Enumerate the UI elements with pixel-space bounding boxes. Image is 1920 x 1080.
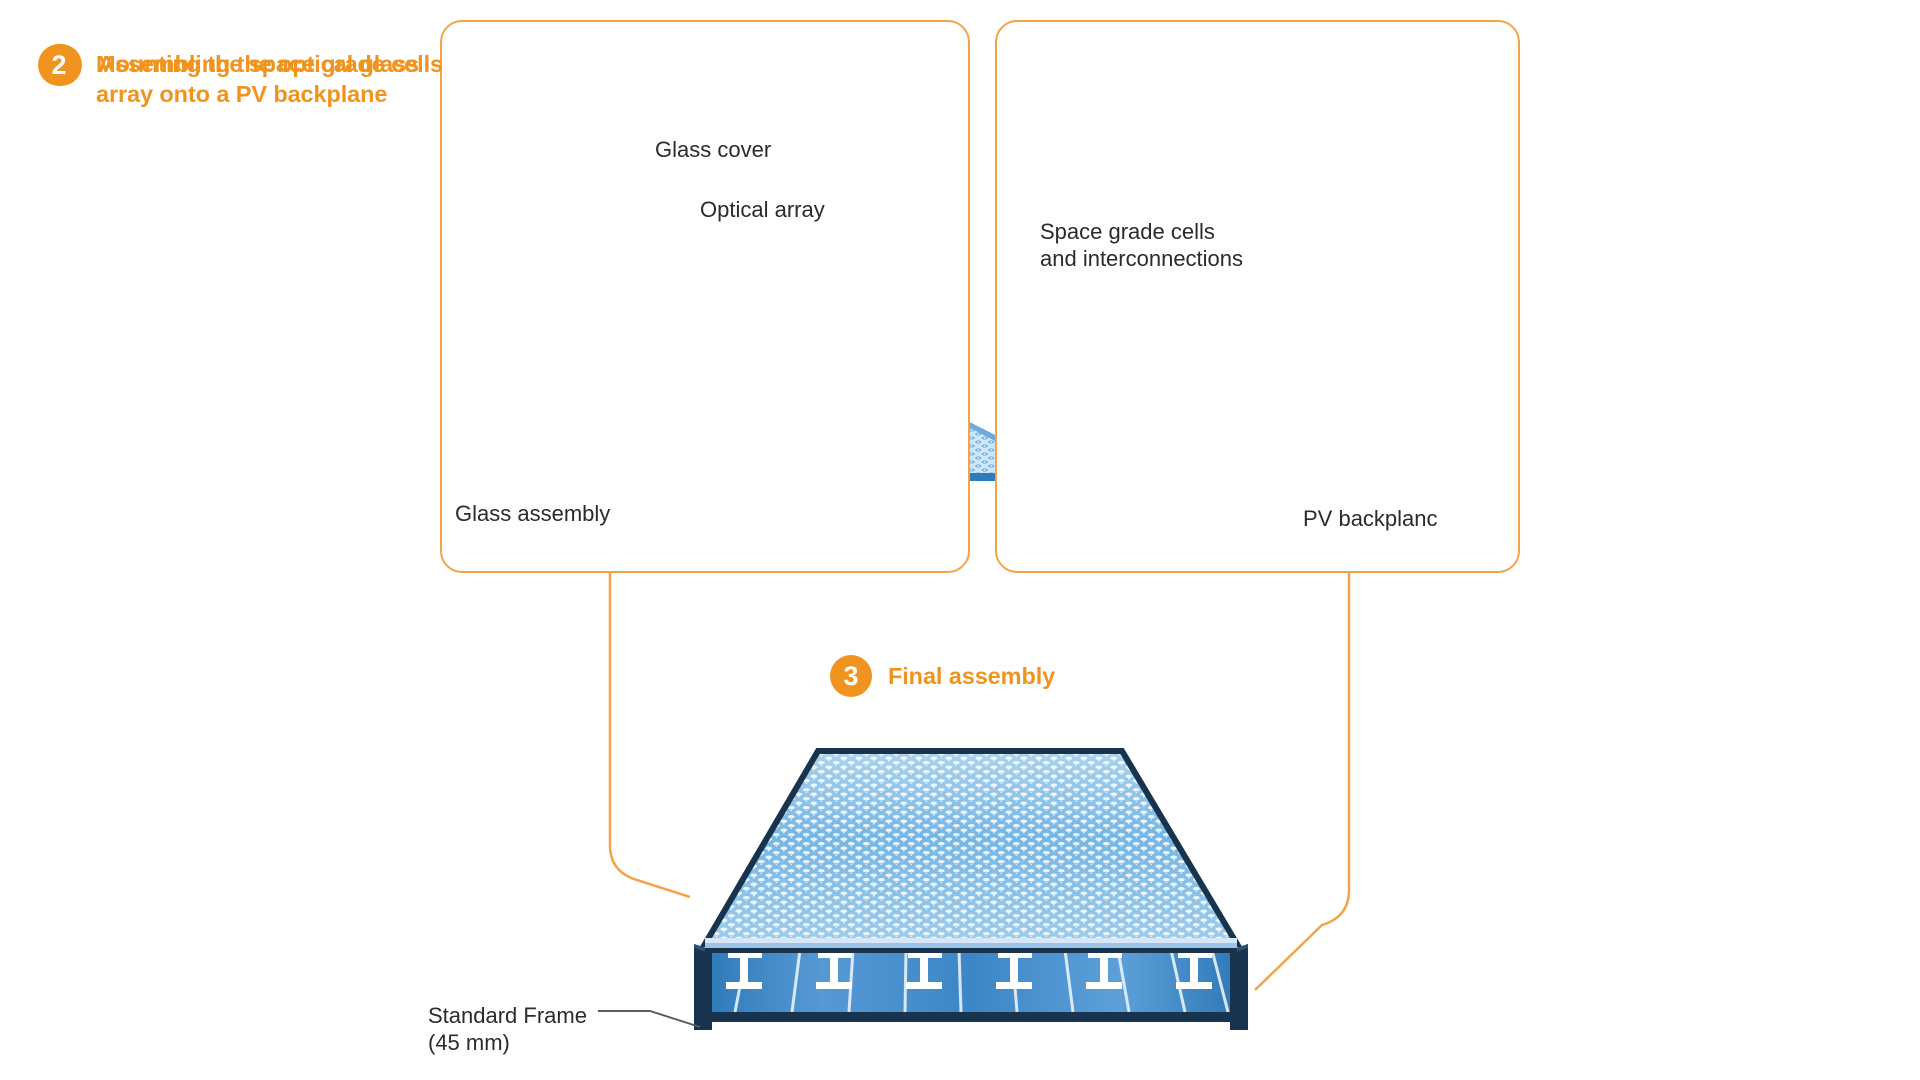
- connector-lines: [610, 573, 1349, 990]
- diagram-canvas: 1 Assembling the optical glass Glass cov…: [0, 0, 1920, 1080]
- step-2-header: 2 Mounting the space grade cells array o…: [38, 44, 481, 109]
- label-pv-backplane: PV backplanc: [1303, 505, 1438, 532]
- label-optical-array: Optical array: [700, 196, 825, 223]
- step-2-title: Mounting the space grade cells array ont…: [96, 44, 481, 109]
- step-1-panel: [440, 20, 970, 573]
- label-glass-cover: Glass cover: [655, 136, 771, 163]
- step-3-title: Final assembly: [888, 660, 1055, 692]
- step-3-header: 3 Final assembly: [830, 655, 1055, 697]
- label-glass-assembly: Glass assembly: [455, 500, 610, 527]
- step-number-badge-2: 2: [38, 44, 80, 86]
- step3-module-artwork: [598, 745, 1250, 1030]
- label-standard-frame: Standard Frame (45 mm): [428, 1002, 587, 1057]
- step-2-panel: [995, 20, 1520, 573]
- standard-frame: [694, 938, 1248, 1030]
- step-number-badge-3: 3: [830, 655, 872, 697]
- label-space-grade-cells: Space grade cells and interconnections: [1040, 218, 1243, 273]
- leader-standard-frame: [598, 1011, 700, 1027]
